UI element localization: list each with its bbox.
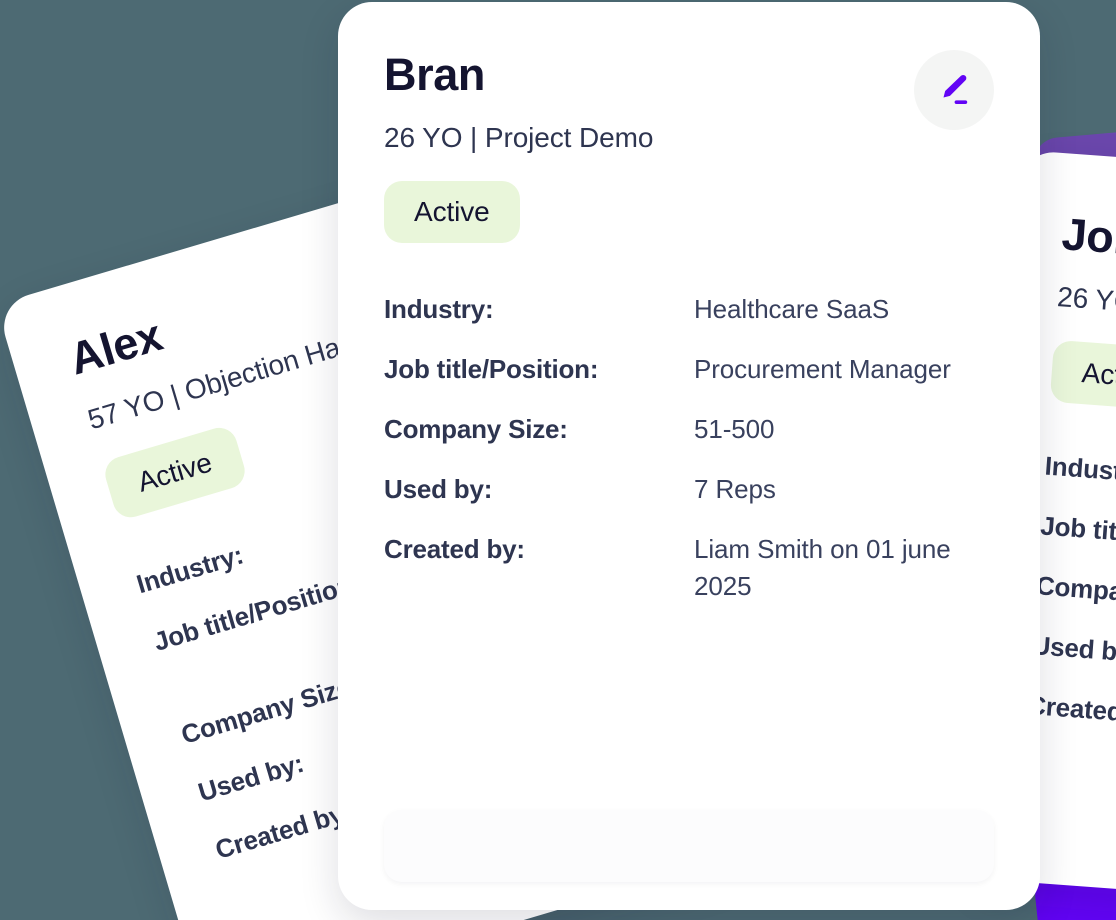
label-company-size: Company Size:: [1035, 567, 1116, 627]
value-job-title: Procurement Manager: [694, 351, 994, 388]
persona-card-main[interactable]: Bran 26 YO | Project Demo Active Industr…: [338, 2, 1040, 910]
persona-name: Bran: [384, 50, 653, 100]
status-badge: Active: [101, 424, 249, 522]
edit-button[interactable]: [914, 50, 994, 130]
card-header: Bran 26 YO | Project Demo: [384, 50, 994, 154]
label-job-title: Job title/Position:: [1039, 508, 1116, 568]
label-used-by: Used by:: [1030, 627, 1116, 687]
card-footer-panel[interactable]: [384, 810, 994, 882]
status-badge: Active: [384, 181, 520, 243]
status-badge: Active: [1050, 340, 1116, 412]
value-company-size: 51-500: [694, 411, 994, 448]
card-stack-stage: Jordan 26 YO | Project Demo Active Indus…: [0, 0, 1116, 920]
persona-subtitle: 26 YO | Project Demo: [384, 122, 653, 154]
label-industry: Industry:: [384, 291, 694, 328]
card-title-block: Bran 26 YO | Project Demo: [384, 50, 653, 154]
label-company-size: Company Size:: [384, 411, 694, 448]
label-used-by: Used by:: [384, 471, 694, 508]
label-job-title: Job title/Position:: [384, 351, 694, 388]
label-industry: Industry:: [1044, 448, 1116, 508]
card-header: Jordan 26 YO | Project Demo: [1056, 209, 1116, 355]
value-used-by: 7 Reps: [694, 471, 994, 508]
persona-name: Jordan: [1060, 209, 1116, 279]
persona-subtitle: 26 YO | Project Demo: [1056, 281, 1116, 333]
label-created-by: Created by:: [384, 531, 694, 568]
pencil-edit-icon: [936, 72, 972, 108]
detail-grid: Industry: Healthcare SaaS Job title/Posi…: [384, 291, 994, 604]
value-created-by: Liam Smith on 01 june 2025: [694, 531, 994, 605]
value-industry: Healthcare SaaS: [694, 291, 994, 328]
